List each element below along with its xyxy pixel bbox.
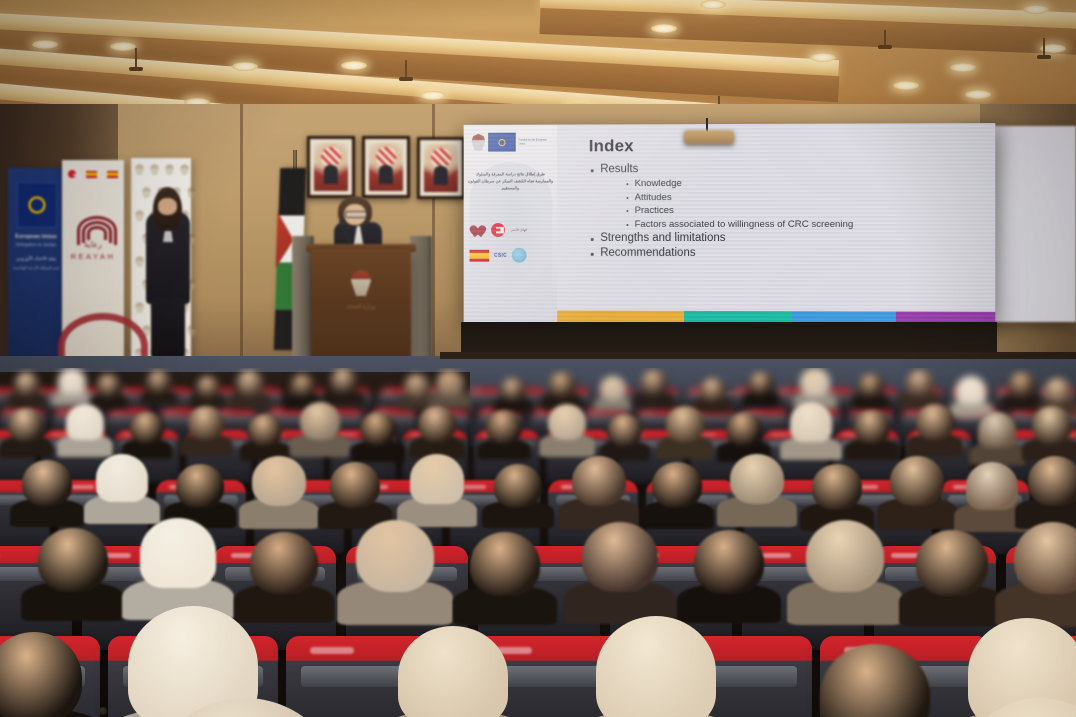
bullet-text: Attitudes <box>635 192 672 203</box>
audience-member <box>8 408 44 442</box>
bullet-text: Factors associated to willingness of CRC… <box>635 218 854 229</box>
audience-member <box>486 410 522 444</box>
audience-member <box>1014 522 1076 594</box>
audience-member <box>0 632 82 717</box>
bullet-dot-icon <box>626 224 628 226</box>
audience-member <box>404 374 430 398</box>
audience-member <box>916 404 954 440</box>
audience-member <box>360 412 396 446</box>
audience-member <box>748 372 774 396</box>
bullet-text: Recommendations <box>600 247 695 259</box>
audience-member <box>330 462 380 508</box>
audience-member <box>494 464 542 508</box>
audience-member <box>96 374 122 398</box>
bullet-dot-icon <box>626 210 628 212</box>
eu-banner-subtitle-ar: لدى المملكة الأردنية الهاشمية <box>8 265 64 271</box>
reayah-banner: رعاية REAYAH <box>62 160 124 370</box>
slide-sidebar: Funded by the European Union طرق إطلاق ن… <box>464 125 557 324</box>
slide-bullet-level2: Knowledge <box>626 178 981 190</box>
bullet-text: Practices <box>635 205 674 216</box>
glasses-icon <box>345 211 367 218</box>
red-crescent-logo <box>491 223 505 237</box>
audience-member <box>600 376 626 400</box>
slide-bullet-list: ResultsKnowledgeAttitudesPracticesFactor… <box>581 162 981 259</box>
crest-pattern-icon <box>180 164 189 175</box>
partner-flag-logo <box>107 171 118 178</box>
audience-member <box>858 374 884 398</box>
audience-member <box>800 368 830 396</box>
audience-member <box>640 370 668 396</box>
audience-member <box>130 412 164 444</box>
audience-member-headscarf <box>596 616 716 717</box>
audience-member <box>906 370 934 396</box>
bullet-text: Knowledge <box>635 178 682 189</box>
ceiling-downlight <box>32 40 58 49</box>
audience-member <box>890 456 944 506</box>
reayah-heart-logo <box>471 224 486 237</box>
stage-edge <box>440 352 1076 359</box>
audience-member <box>300 402 340 440</box>
ceiling-downlight <box>341 61 367 70</box>
eu-delegation-banner: European Union Delegation to Jordan بعثة… <box>8 168 64 365</box>
bullet-text: Results <box>600 163 638 175</box>
audience-member <box>548 404 586 440</box>
ceiling-downlight <box>810 53 836 62</box>
partner-arabic-label: الهلال الأحمر <box>511 228 527 232</box>
jordan-crest-logo <box>471 134 485 151</box>
slide-title: Index <box>589 135 981 156</box>
audience-member <box>470 532 540 596</box>
csic-logo: CSIC <box>494 252 507 258</box>
podium-side-pillar <box>410 236 432 360</box>
audience-member <box>608 414 642 446</box>
audience-member <box>196 376 220 398</box>
audience-member <box>356 520 434 592</box>
audience-member <box>188 406 224 440</box>
slide-content: Index ResultsKnowledgeAttitudesPractices… <box>557 123 995 307</box>
audience-member-headscarf <box>58 368 86 394</box>
audience-member-headscarf <box>956 376 986 404</box>
audience-member <box>418 406 456 442</box>
slide-bullet-level2: Attitudes <box>626 191 981 202</box>
audience-member <box>812 464 862 510</box>
crest-pattern-icon <box>135 256 144 267</box>
slide-bullet-level1: Recommendations <box>591 247 981 259</box>
ceiling-downlight <box>420 91 446 100</box>
crest-pattern-icon <box>135 164 144 175</box>
audience-member <box>916 530 988 596</box>
audience-member <box>730 454 784 504</box>
royal-portrait <box>307 136 355 198</box>
audience-member-headscarf <box>398 626 508 717</box>
wall-seam <box>240 104 243 374</box>
audience-member <box>436 370 464 396</box>
crest-pattern-icon <box>135 210 144 221</box>
conference-hall-photo: Funded by the European Union طرق إطلاق ن… <box>0 0 1076 717</box>
slide-sidebar-arabic-heading: طرق إطلاق نتائج دراسة المعرفة والسلوك وا… <box>468 170 554 191</box>
ceiling-sprinkler-icon <box>135 48 137 68</box>
crest-pattern-icon <box>165 164 174 175</box>
projection-screen: Funded by the European Union طرق إطلاق ن… <box>464 123 996 325</box>
audience-member <box>250 532 318 594</box>
european-union-flag-logo <box>488 133 516 152</box>
royal-portrait <box>362 136 410 198</box>
crest-pattern-icon <box>135 302 144 313</box>
jordan-coat-of-arms-icon <box>351 270 371 296</box>
podium: وزارة الصحة <box>311 248 411 362</box>
ceiling-downlight <box>700 0 726 9</box>
slide-bullet-level1: Results <box>591 162 981 175</box>
audience-member <box>1032 406 1072 444</box>
audience-member-headscarf <box>966 462 1018 510</box>
crest-pattern-icon <box>150 164 159 175</box>
spain-flag-logo <box>470 249 490 261</box>
audience-member-headscarf <box>978 412 1016 448</box>
bullet-dot-icon <box>591 169 594 172</box>
audience-member <box>572 456 626 506</box>
eu-funding-caption: Funded by the European Union <box>519 139 553 146</box>
standing-person <box>145 190 191 358</box>
audience-member-headscarf <box>66 404 104 440</box>
audience-member <box>1008 372 1036 398</box>
ceiling-downlight <box>651 24 677 33</box>
audience-member <box>14 372 40 396</box>
ceiling-downlight <box>950 63 976 72</box>
spain-flag-logo <box>86 171 97 178</box>
audience-member-headscarf <box>960 698 1076 717</box>
audience-member <box>652 462 702 508</box>
audience-member <box>176 464 224 508</box>
bullet-dot-icon <box>626 197 628 199</box>
bullet-text: Strengths and limitations <box>600 232 725 244</box>
reayah-name: REAYAH <box>62 252 124 261</box>
audience-member-headscarf <box>96 454 148 502</box>
audience-member <box>252 456 306 506</box>
ceiling-downlight <box>965 90 991 99</box>
audience-member-headscarf <box>410 454 464 504</box>
ceiling-sprinkler-icon <box>884 30 886 46</box>
royal-portrait <box>417 137 465 199</box>
audience-member <box>500 378 526 402</box>
ceiling-downlight <box>893 81 919 90</box>
audience-seating <box>0 368 1076 717</box>
ceiling-sprinkler-icon <box>405 60 407 78</box>
audience-member <box>820 644 930 717</box>
ceiling-downlight <box>232 62 258 71</box>
audience-member <box>1044 378 1072 404</box>
audience-member <box>854 410 890 444</box>
reayah-banner-partner-logos <box>68 168 118 180</box>
audience-member <box>146 370 172 394</box>
audience-member <box>248 414 282 446</box>
audience-member-headscarf <box>790 402 832 442</box>
audience-member-headscarf <box>140 518 216 588</box>
eu-banner-name: European Union <box>8 234 64 241</box>
projector-icon <box>684 130 734 144</box>
ceiling-downlight <box>110 42 136 51</box>
audience-member <box>290 374 316 398</box>
audience-member <box>694 530 764 594</box>
slide-bullet-level1: Strengths and limitations <box>591 232 981 244</box>
podium-label: وزارة الصحة <box>311 304 411 310</box>
audience-member <box>726 412 762 446</box>
bullet-dot-icon <box>626 183 628 185</box>
eu-flag-icon <box>17 182 57 228</box>
audience-member <box>548 372 576 398</box>
slide-bullet-level2: Factors associated to willingness of CRC… <box>626 218 981 229</box>
agency-circle-logo <box>512 248 527 263</box>
audience-member <box>330 368 358 394</box>
reayah-name-ar: رعاية <box>62 240 124 249</box>
audience-member <box>1028 456 1076 506</box>
eu-banner-subtitle: Delegation to Jordan <box>8 242 64 248</box>
audience-member <box>236 370 264 396</box>
audience-member <box>700 378 726 402</box>
audience-member <box>582 522 658 592</box>
audience-member-headscarf <box>150 698 340 717</box>
ceiling-downlight <box>1023 5 1049 14</box>
bullet-dot-icon <box>591 238 594 241</box>
eu-banner-name-ar: بعثة الاتحاد الأوروبي <box>8 256 64 263</box>
audience-member <box>22 460 72 506</box>
ceiling-sprinkler-icon <box>1043 38 1045 56</box>
bullet-dot-icon <box>591 253 594 256</box>
audience-member <box>806 520 884 592</box>
slide-bullet-level2: Practices <box>626 205 981 216</box>
audience-member <box>38 528 108 592</box>
audience-member <box>666 406 704 442</box>
red-crescent-logo <box>68 170 76 178</box>
